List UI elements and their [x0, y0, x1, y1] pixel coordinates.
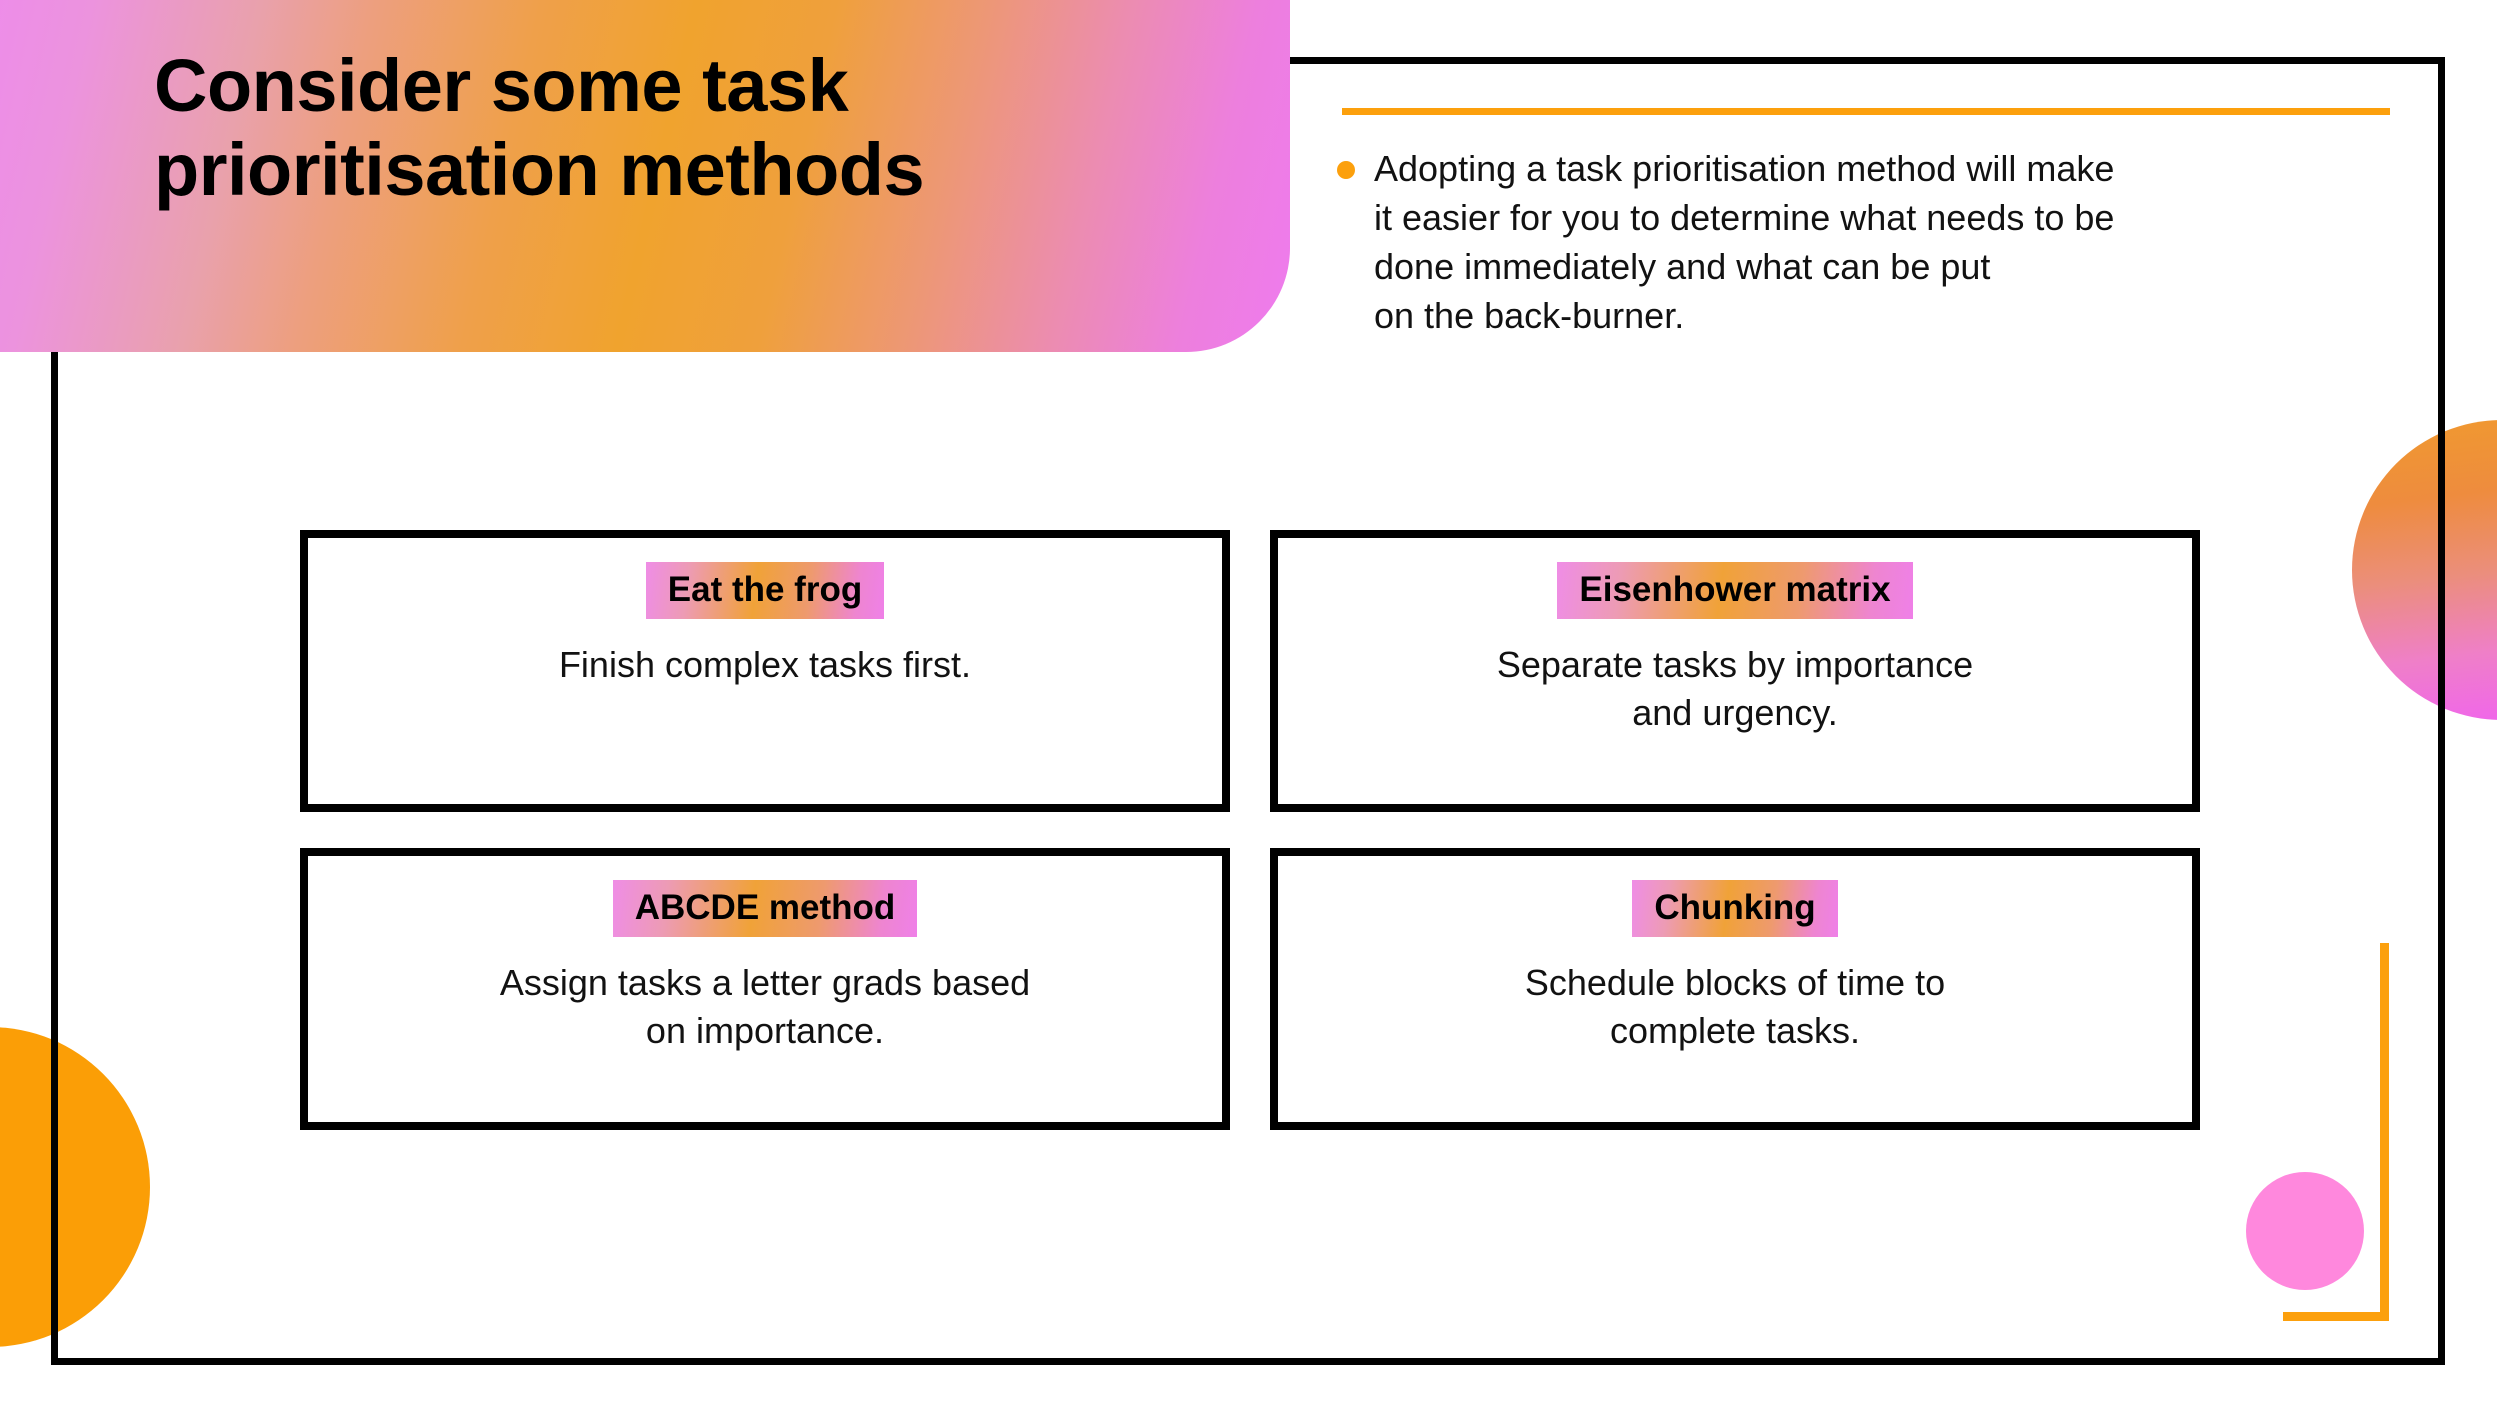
bullet-dot-icon — [1337, 161, 1355, 179]
method-label: ABCDE method — [613, 880, 918, 937]
orange-circle-decoration-icon — [0, 1027, 150, 1347]
title-banner: Consider some task prioritisation method… — [0, 0, 1290, 352]
intro-paragraph: Adopting a task prioritisation method wi… — [1374, 145, 2417, 341]
method-label: Eisenhower matrix — [1557, 562, 1912, 619]
gradient-circle-decoration-icon — [2352, 420, 2497, 720]
intro-bullet-item: Adopting a task prioritisation method wi… — [1337, 145, 2417, 341]
page-title: Consider some task prioritisation method… — [154, 44, 1214, 211]
method-card-eat-the-frog: Eat the frog Finish complex tasks first. — [300, 530, 1230, 812]
method-description: Finish complex tasks first. — [559, 641, 971, 689]
method-description: Schedule blocks of time to complete task… — [1525, 959, 1945, 1054]
method-label: Eat the frog — [646, 562, 884, 619]
method-label: Chunking — [1632, 880, 1837, 937]
orange-rule-decoration-icon — [1342, 108, 2390, 115]
method-description: Assign tasks a letter grads based on imp… — [500, 959, 1030, 1054]
method-card-abcde-method: ABCDE method Assign tasks a letter grads… — [300, 848, 1230, 1130]
pink-circle-decoration-icon — [2246, 1172, 2364, 1290]
method-card-grid: Eat the frog Finish complex tasks first.… — [300, 530, 2200, 1130]
slide-canvas: Consider some task prioritisation method… — [0, 0, 2497, 1426]
method-card-eisenhower-matrix: Eisenhower matrix Separate tasks by impo… — [1270, 530, 2200, 812]
method-card-chunking: Chunking Schedule blocks of time to comp… — [1270, 848, 2200, 1130]
method-description: Separate tasks by importance and urgency… — [1497, 641, 1973, 736]
